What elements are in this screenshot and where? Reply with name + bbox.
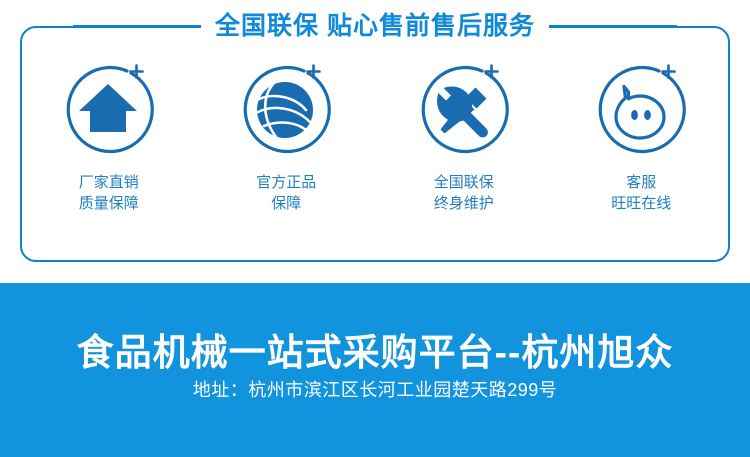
feature-item-nationwide-warranty[interactable]: 全国联保 终身维护 bbox=[384, 60, 544, 214]
feature-label-line2: 终身维护 bbox=[434, 193, 494, 214]
wrench-screwdriver-icon bbox=[412, 60, 516, 160]
footer-banner: 食品机械一站式采购平台--杭州旭众 地址：杭州市滨江区长河工业园楚天路299号 bbox=[0, 283, 750, 457]
feature-label: 全国联保 终身维护 bbox=[434, 172, 494, 214]
wangwang-face-icon bbox=[589, 60, 693, 160]
feature-list: 厂家直销 质量保障 bbox=[20, 60, 730, 240]
feature-label-line1: 官方正品 bbox=[256, 174, 316, 191]
feature-label-line1: 客服 bbox=[626, 174, 656, 191]
feature-label-line1: 厂家直销 bbox=[79, 174, 139, 191]
feature-label-line2: 保障 bbox=[256, 193, 316, 214]
feature-item-factory-direct-sales[interactable]: 厂家直销 质量保障 bbox=[29, 60, 189, 214]
factory-house-arrow-icon bbox=[57, 60, 161, 160]
footer-heading: 食品机械一站式采购平台--杭州旭众 bbox=[0, 322, 750, 376]
feature-label: 厂家直销 质量保障 bbox=[79, 172, 139, 214]
feature-label-line2: 旺旺在线 bbox=[611, 193, 671, 214]
feature-label-line2: 质量保障 bbox=[79, 193, 139, 214]
feature-item-customer-service[interactable]: 客服 旺旺在线 bbox=[561, 60, 721, 214]
footer-address: 地址：杭州市滨江区长河工业园楚天路299号 bbox=[0, 376, 750, 402]
feature-item-official-genuine[interactable]: 官方正品 保障 bbox=[206, 60, 366, 214]
feature-label: 客服 旺旺在线 bbox=[611, 172, 671, 214]
service-guarantee-panel: 全国联保 贴心售前售后服务 厂家直销 质量保障 bbox=[0, 0, 750, 283]
globe-sphere-icon bbox=[234, 60, 338, 160]
feature-label-line1: 全国联保 bbox=[434, 174, 494, 191]
feature-label: 官方正品 保障 bbox=[256, 172, 316, 214]
